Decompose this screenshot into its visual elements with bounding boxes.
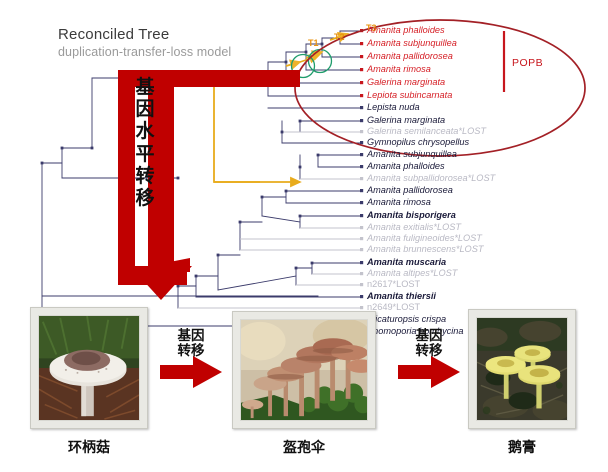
figure-root: Reconciled Tree duplication-transfer-los… — [0, 0, 608, 472]
photo-arrow-layer — [0, 0, 608, 472]
arrow-label-line-1: 基因 — [393, 329, 465, 344]
arrow-label-line-2: 转移 — [393, 344, 465, 359]
photo-arrow-label-1: 基因 转移 — [155, 329, 227, 359]
gene-transfer-arrow-1 — [160, 356, 222, 388]
arrow-label-line-2: 转移 — [155, 344, 227, 359]
photo-arrow-label-2: 基因 转移 — [393, 329, 465, 359]
gene-transfer-arrow-2 — [398, 356, 460, 388]
arrow-label-line-1: 基因 — [155, 329, 227, 344]
